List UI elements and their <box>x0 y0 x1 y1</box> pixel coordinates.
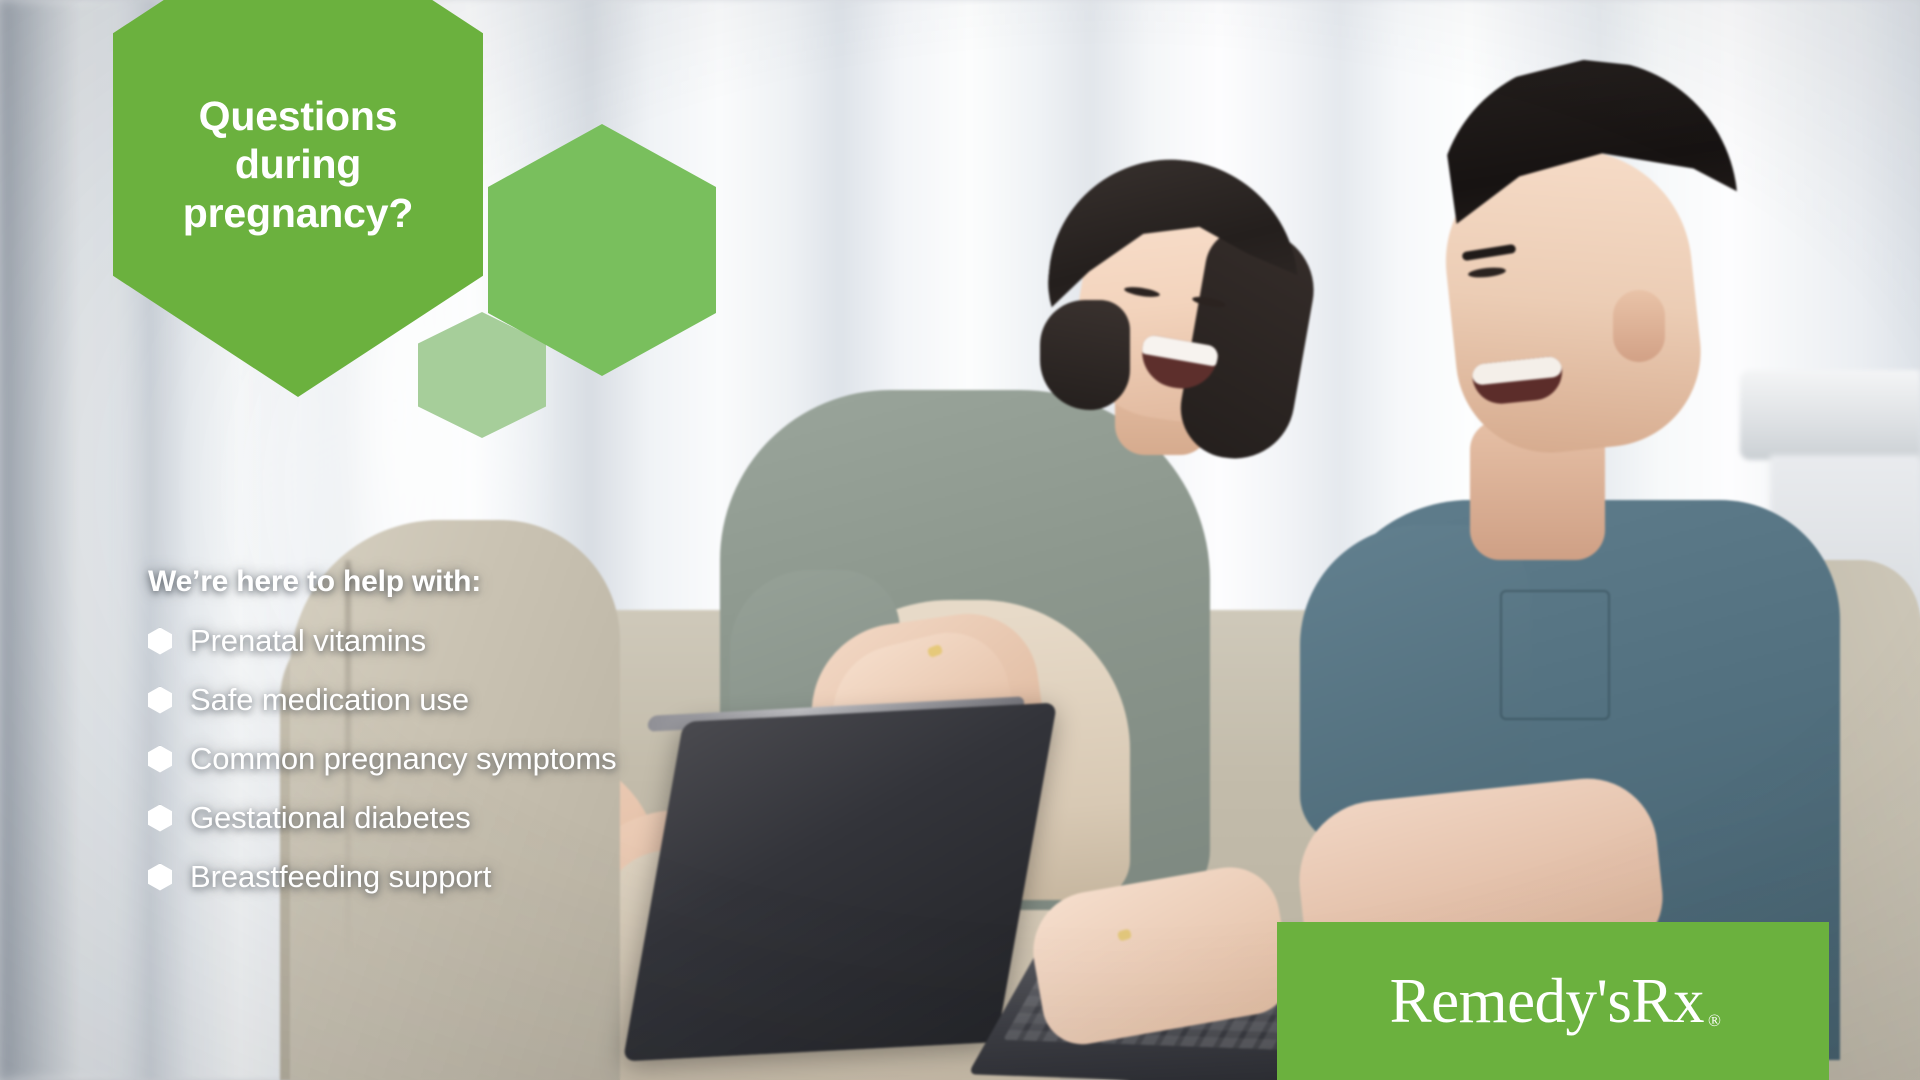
hexagon-bullet-icon <box>148 805 172 832</box>
list-item-label: Gestational diabetes <box>190 800 471 836</box>
brand-logo-text: Remedy'sRx <box>1390 966 1704 1036</box>
page-title: Questions during pregnancy? <box>113 92 483 237</box>
curtain-shadow <box>0 0 130 1080</box>
headline-line-1: Questions <box>113 92 483 140</box>
hexagon-bullet-icon <box>148 628 172 655</box>
help-topics-heading: We’re here to help with: <box>148 565 617 599</box>
brand-logo: Remedy'sRx® <box>1277 922 1829 1080</box>
help-topics-list: Prenatal vitamins Safe medication use Co… <box>148 623 617 895</box>
list-item: Gestational diabetes <box>148 800 617 836</box>
laptop-screen <box>623 703 1058 1062</box>
list-item-label: Prenatal vitamins <box>190 623 426 659</box>
man-shirt-pocket <box>1500 590 1610 720</box>
list-item-label: Breastfeeding support <box>190 859 491 895</box>
hexagon-bullet-icon <box>148 687 172 714</box>
list-item: Common pregnancy symptoms <box>148 741 617 777</box>
list-item: Breastfeeding support <box>148 859 617 895</box>
list-item-label: Common pregnancy symptoms <box>190 741 617 777</box>
headline-line-2: during <box>113 140 483 188</box>
side-table <box>1740 370 1920 460</box>
poster-canvas: Questions during pregnancy? We’re here t… <box>0 0 1920 1080</box>
woman-hair-bun <box>1040 300 1130 410</box>
list-item: Prenatal vitamins <box>148 623 617 659</box>
help-topics-block: We’re here to help with: Prenatal vitami… <box>148 565 617 918</box>
hexagon-bullet-icon <box>148 864 172 891</box>
list-item: Safe medication use <box>148 682 617 718</box>
headline-line-3: pregnancy? <box>113 189 483 237</box>
registered-trademark-icon: ® <box>1708 1011 1720 1030</box>
man-ear <box>1613 290 1665 362</box>
hexagon-bullet-icon <box>148 746 172 773</box>
list-item-label: Safe medication use <box>190 682 469 718</box>
brand-logo-wordmark: Remedy'sRx® <box>1390 970 1717 1033</box>
